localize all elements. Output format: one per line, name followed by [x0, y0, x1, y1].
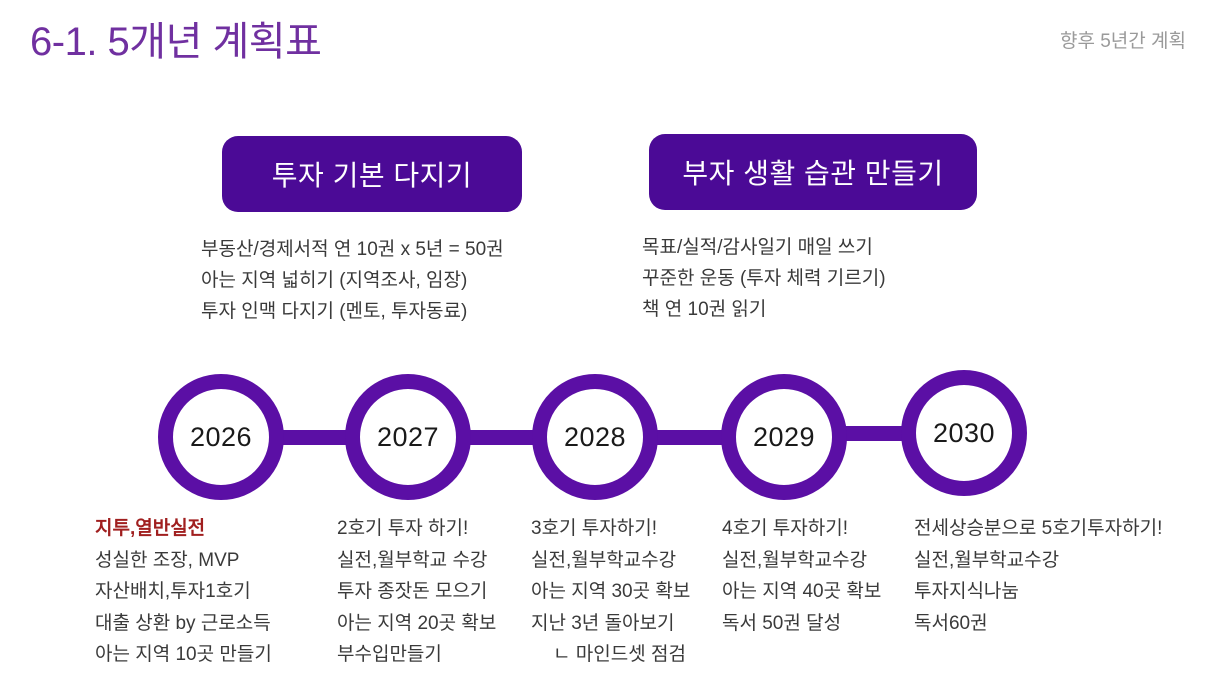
year-column-line: 실전,월부학교수강: [531, 545, 690, 577]
year-column-line: 4호기 투자하기!: [722, 513, 881, 545]
year-column-line: 아는 지역 30곳 확보: [531, 576, 690, 608]
goal-bullets-rich-habits: 목표/실적/감사일기 매일 쓰기 꾸준한 운동 (투자 체력 기르기) 책 연 …: [642, 232, 886, 325]
timeline-node-2026[interactable]: 2026: [158, 374, 284, 500]
year-column-line: 실전,월부학교 수강: [337, 545, 496, 577]
year-column-line: 자산배치,투자1호기: [95, 576, 272, 608]
year-column-line: 3호기 투자하기!: [531, 513, 690, 545]
year-column-2030: 전세상승분으로 5호기투자하기! 실전,월부학교수강 투자지식나눔 독서60권: [914, 513, 1162, 639]
year-column-heading: 지투,열반실전: [95, 513, 272, 545]
timeline-node-year: 2027: [377, 422, 439, 453]
timeline-node-year: 2030: [933, 418, 995, 449]
bullet-line: 부동산/경제서적 연 10권 x 5년 = 50권: [201, 234, 504, 265]
timeline-node-year: 2028: [564, 422, 626, 453]
bullet-line: 투자 인맥 다지기 (멘토, 투자동료): [201, 296, 504, 327]
timeline-connector: [838, 426, 906, 441]
goal-badge-investment-basics: 투자 기본 다지기: [222, 136, 522, 212]
timeline-node-2027[interactable]: 2027: [345, 374, 471, 500]
year-column-line: 부수입만들기: [337, 639, 496, 671]
year-column-2029: 4호기 투자하기! 실전,월부학교수강 아는 지역 40곳 확보 독서 50권 …: [722, 513, 881, 639]
year-column-line: 대출 상환 by 근로소득: [95, 608, 272, 640]
timeline-connector: [460, 430, 536, 445]
timeline-node-year: 2029: [753, 422, 815, 453]
bullet-line: 아는 지역 넓히기 (지역조사, 임장): [201, 265, 504, 296]
year-column-line: 독서 50권 달성: [722, 608, 881, 640]
year-column-line: 전세상승분으로 5호기투자하기!: [914, 513, 1162, 545]
year-column-2028: 3호기 투자하기! 실전,월부학교수강 아는 지역 30곳 확보 지난 3년 돌…: [531, 513, 690, 671]
page-title: 6-1. 5개년 계획표: [30, 18, 321, 66]
year-column-line: ㄴ 마인드셋 점검: [531, 639, 690, 671]
year-column-line: 실전,월부학교수강: [914, 545, 1162, 577]
timeline-node-year: 2026: [190, 422, 252, 453]
goal-bullets-investment-basics: 부동산/경제서적 연 10권 x 5년 = 50권 아는 지역 넓히기 (지역조…: [201, 234, 504, 327]
year-column-line: 독서60권: [914, 608, 1162, 640]
goal-badge-rich-habits: 부자 생활 습관 만들기: [649, 134, 977, 210]
year-column-line: 2호기 투자 하기!: [337, 513, 496, 545]
year-column-line: 성실한 조장, MVP: [95, 545, 272, 577]
header-note: 향후 5년간 계획: [1060, 26, 1186, 53]
year-column-line: 투자지식나눔: [914, 576, 1162, 608]
bullet-line: 책 연 10권 읽기: [642, 294, 886, 325]
year-column-line: 투자 종잣돈 모으기: [337, 576, 496, 608]
year-column-line: 아는 지역 20곳 확보: [337, 608, 496, 640]
timeline-node-2028[interactable]: 2028: [532, 374, 658, 500]
bullet-line: 목표/실적/감사일기 매일 쓰기: [642, 232, 886, 263]
year-column-line: 아는 지역 40곳 확보: [722, 576, 881, 608]
year-column-line: 실전,월부학교수강: [722, 545, 881, 577]
year-column-line: 지난 3년 돌아보기: [531, 608, 690, 640]
bullet-line: 꾸준한 운동 (투자 체력 기르기): [642, 263, 886, 294]
year-column-2027: 2호기 투자 하기! 실전,월부학교 수강 투자 종잣돈 모으기 아는 지역 2…: [337, 513, 496, 671]
goal-badge-label: 투자 기본 다지기: [272, 154, 472, 194]
goal-badge-label: 부자 생활 습관 만들기: [682, 152, 943, 192]
timeline-node-2029[interactable]: 2029: [721, 374, 847, 500]
year-column-line: 아는 지역 10곳 만들기: [95, 639, 272, 671]
slide-canvas: 6-1. 5개년 계획표 향후 5년간 계획 투자 기본 다지기 부동산/경제서…: [0, 0, 1216, 684]
timeline-connector: [648, 430, 726, 445]
timeline: 2026 2027 2028 2029 2030: [0, 360, 1216, 520]
year-column-2026: 지투,열반실전 성실한 조장, MVP 자산배치,투자1호기 대출 상환 by …: [95, 513, 272, 671]
timeline-node-2030[interactable]: 2030: [901, 370, 1027, 496]
